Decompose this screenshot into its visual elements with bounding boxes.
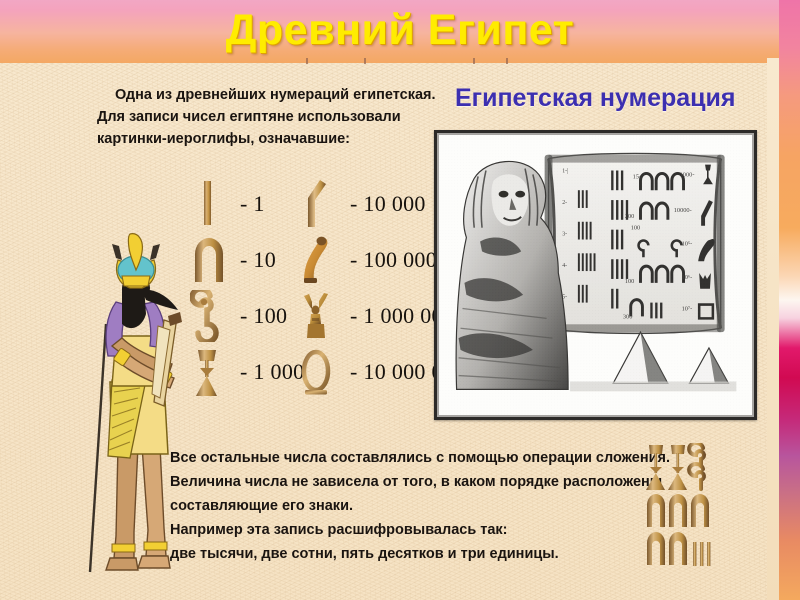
numeral-label: - 100 [240,303,287,329]
numeral-label: - 1 [240,191,265,217]
numeral-row-3: - 100 [190,288,304,344]
numeral-row-2: - 10 [190,232,304,288]
engraving-image: Сфинкс, папирус с иероглифическими числа… [437,133,754,417]
banner-tick-marks [0,58,800,65]
bent-finger-glyph [300,178,346,230]
outro-line-3: составляющие его знаки. [170,494,670,518]
slide-canvas: Древний Египет Одна из древнейших нумера… [0,0,800,600]
numeral-label: - 10 000 [350,191,426,217]
example-numeral: 2253 [645,443,735,568]
edge-paper-strip [767,58,779,600]
numeral-row-1: - 1 [190,176,304,232]
intro-paragraph: Одна из древнейших нумераций египетская.… [97,84,436,150]
outro-line-1: Все остальные числа составлялись с помощ… [170,446,670,470]
outro-paragraph: Все остальные числа составлялись с помощ… [170,446,670,566]
stroke-glyph [190,178,236,230]
section-heading: Египетская нумерация [455,84,735,113]
numeral-row-4: - 1 000 [190,344,304,400]
numeral-label: - 1 000 [240,359,304,385]
outro-line-5: две тысячи, две сотни, пять десятков и т… [170,542,670,566]
outro-line-4: Например эта запись расшифровывалась так… [170,518,670,542]
cartouche-glyph [300,346,346,398]
intro-line-3: картинки-иероглифы, означавшие: [97,128,436,150]
decorative-edge-gradient [779,0,800,600]
outro-line-2: Величина числа не зависела от того, в ка… [170,470,670,494]
numeral-key-left-column: - 1 - 10 [190,176,304,400]
intro-line-2: Для записи чисел египтяне использовали [97,106,436,128]
tadpole-glyph [300,234,346,286]
heh-god-glyph [300,290,346,342]
intro-line-1: Одна из древнейших нумераций египетская. [97,84,436,106]
numeral-label: - 100 000 [350,247,437,273]
page-title: Древний Египет [0,6,800,55]
numeral-label: - 10 [240,247,276,273]
engraving-frame: Сфинкс, папирус с иероглифическими числа… [434,130,757,420]
